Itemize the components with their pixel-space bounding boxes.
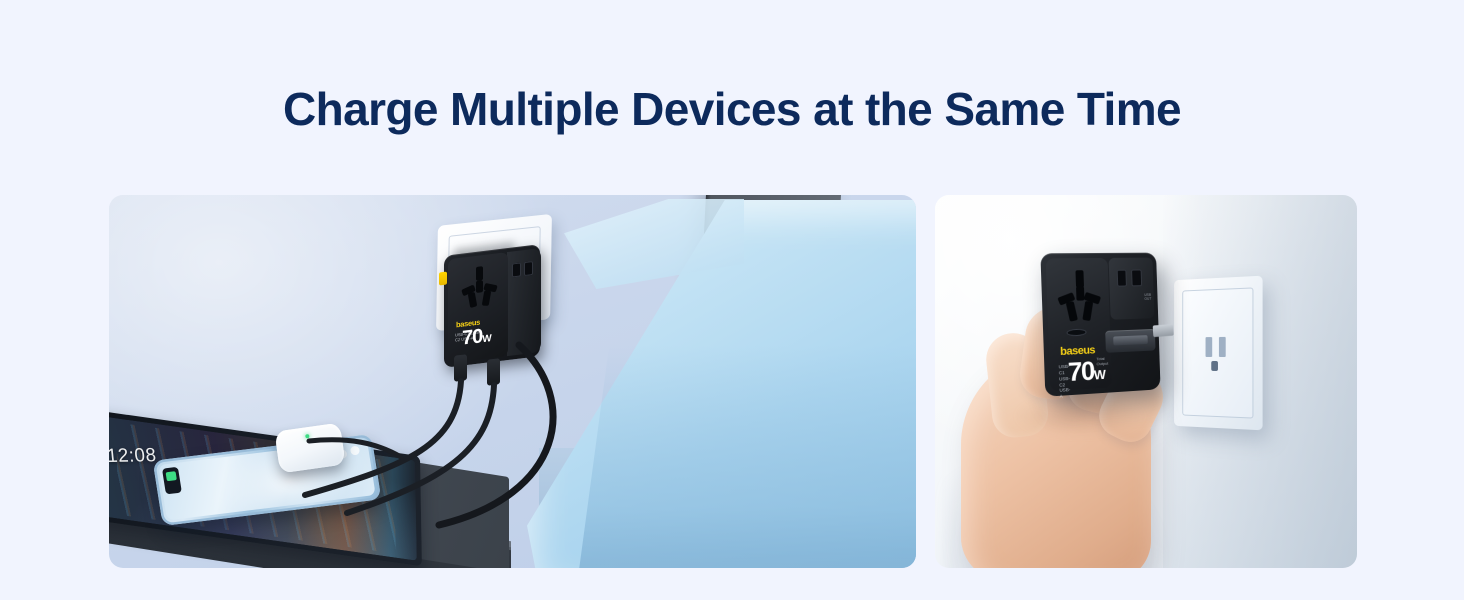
port-label: USB OUT xyxy=(1144,293,1154,301)
page-title: Charge Multiple Devices at the Same Time xyxy=(0,84,1464,135)
adapter-port-face: USB OUT xyxy=(1109,258,1155,320)
outlet-slot-right xyxy=(1219,337,1226,357)
product-feature-banner: Charge Multiple Devices at the Same Time… xyxy=(0,0,1464,600)
outlet-slot-left xyxy=(1206,337,1213,357)
product-image-hand-outlet[interactable]: USB OUT baseus USB-C1 USB-C2 USB-A Total… xyxy=(935,195,1357,568)
image-gallery: 12:08 xyxy=(109,195,1357,568)
travel-adapter-right: USB OUT baseus USB-C1 USB-C2 USB-A Total… xyxy=(1040,253,1160,397)
power-number: 70 xyxy=(1067,355,1094,387)
usb-c-port-icon xyxy=(1131,269,1142,286)
plug-release-latch[interactable] xyxy=(1105,329,1155,353)
power-rating-label: 70W xyxy=(1067,357,1104,385)
knuckle-shading xyxy=(1015,395,1145,437)
charging-cables xyxy=(109,195,916,568)
plug-prong xyxy=(1153,324,1174,337)
socket-oval-slot xyxy=(1066,329,1086,337)
adapter-front-face: baseus USB-C1 USB-C2 USB-A Total Output … xyxy=(1046,258,1112,391)
universal-socket-icon xyxy=(1055,270,1103,324)
usb-a-port-icon xyxy=(1117,270,1127,287)
product-image-bedroom[interactable]: 12:08 xyxy=(109,195,916,568)
power-unit: W xyxy=(1094,367,1105,383)
outlet-ground-slot xyxy=(1211,361,1218,371)
